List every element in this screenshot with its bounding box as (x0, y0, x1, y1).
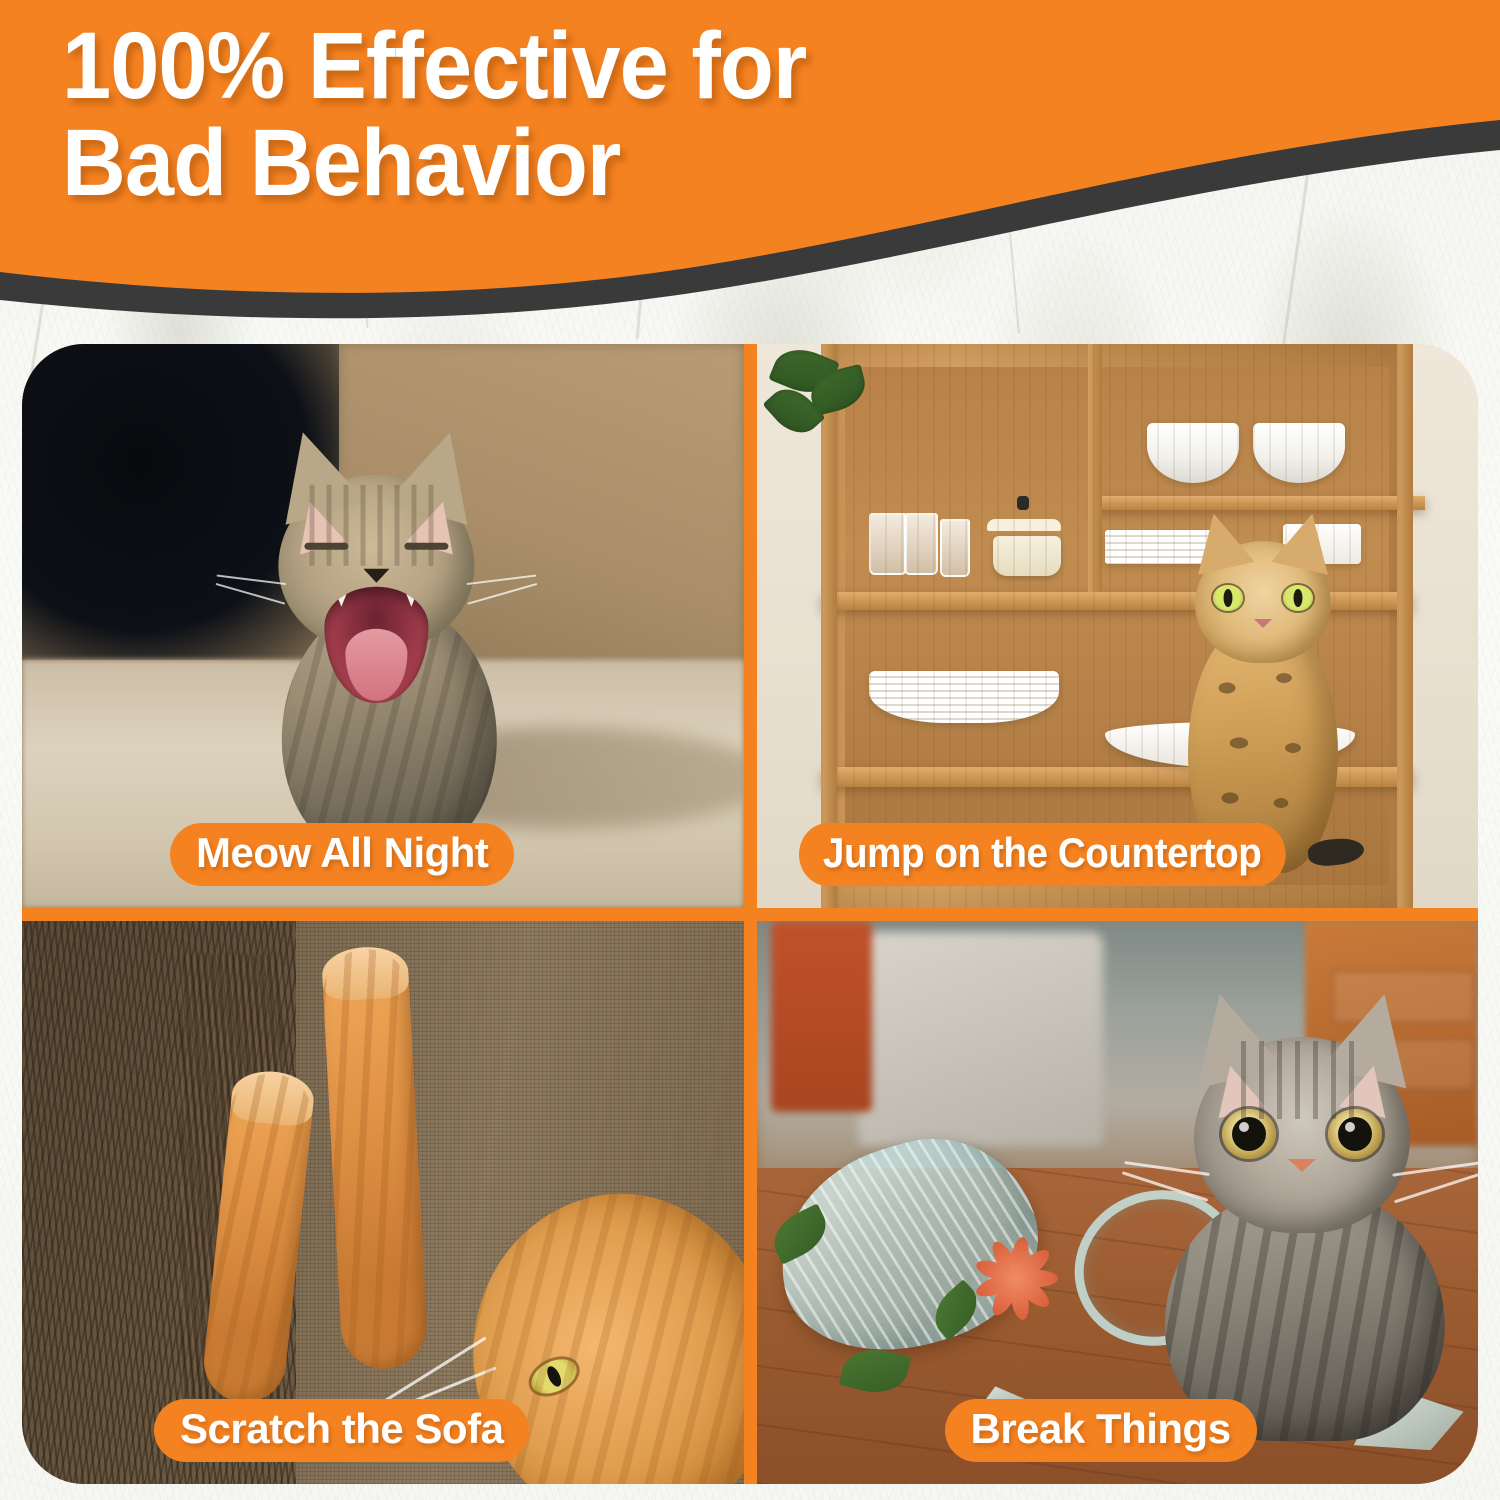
tile-scratch-the-sofa[interactable]: Scratch the Sofa (22, 921, 744, 1485)
title-line-2: Bad Behavior (62, 115, 1104, 212)
infographic-page: 100% Effective for Bad Behavior (0, 0, 1500, 1500)
badge-jump-on-countertop: Jump on the Countertop (799, 823, 1285, 886)
badge-meow-all-night: Meow All Night (170, 823, 514, 886)
behavior-photo-grid: Meow All Night (22, 344, 1478, 1484)
tile-break-things[interactable]: Break Things (757, 921, 1479, 1485)
title-line-1: 100% Effective for (62, 18, 1104, 115)
flower-bloom (1016, 1270, 1026, 1280)
tile-meow-all-night[interactable]: Meow All Night (22, 344, 744, 908)
header-banner: 100% Effective for Bad Behavior (0, 0, 1500, 340)
badge-break-things: Break Things (945, 1399, 1257, 1462)
grey-tabby-illustration (1132, 1011, 1472, 1441)
page-title: 100% Effective for Bad Behavior (62, 18, 1104, 212)
bengal-cat-illustration (1168, 513, 1358, 873)
tile-jump-on-countertop[interactable]: Jump on the Countertop (757, 344, 1479, 908)
plant-decor (764, 344, 879, 491)
badge-scratch-the-sofa: Scratch the Sofa (154, 1399, 529, 1462)
kitten-illustration (211, 433, 541, 853)
